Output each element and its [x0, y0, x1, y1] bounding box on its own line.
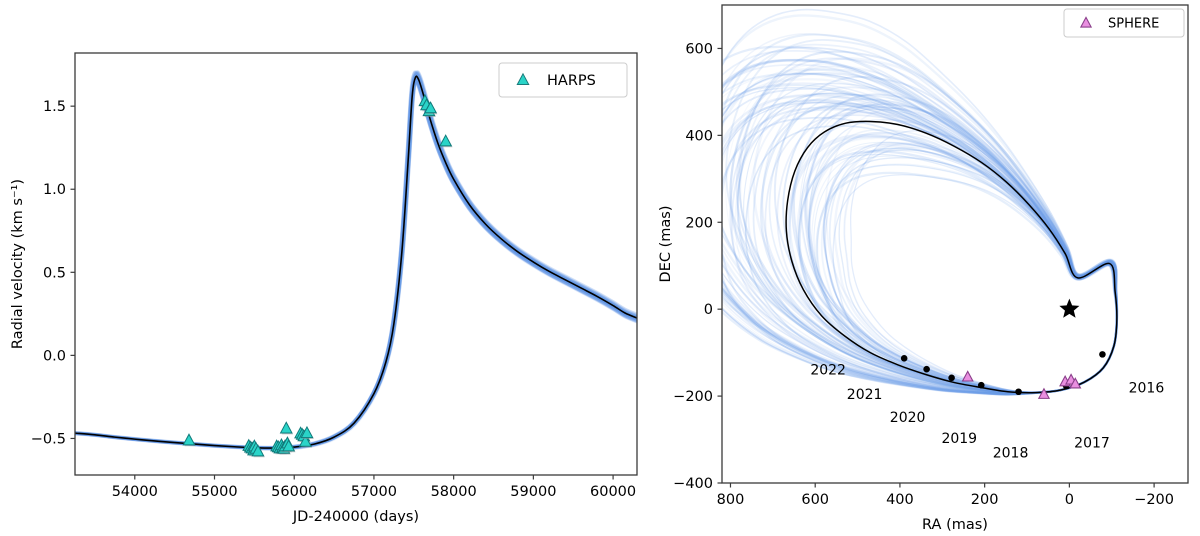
rv-legend[interactable]: HARPS: [499, 63, 627, 97]
orbit-y-tick-label: −200: [673, 389, 713, 405]
sphere-point: [963, 371, 973, 381]
host-star-icon: [1059, 299, 1079, 318]
rv-x-axis-label: JD-240000 (days): [292, 509, 419, 525]
orbit-y-axis-label-group: DEC (mas): [658, 206, 674, 283]
orbit-legend-label: SPHERE: [1108, 17, 1159, 32]
rv-y-tick-label: 0.5: [43, 265, 66, 281]
rv-y-axis-ticks: −0.50.00.51.01.5: [31, 99, 75, 447]
epoch-year-label: 2021: [847, 387, 883, 403]
harps-point: [183, 434, 194, 445]
rv-y-axis-label-group: Radial velocity (km s⁻¹): [10, 179, 26, 349]
orbit-x-axis-label: RA (mas): [922, 517, 988, 533]
epoch-year-label: 2022: [810, 362, 846, 378]
orbit-posterior-draws: [668, 10, 1117, 395]
orbit-y-tick-label: 0: [704, 302, 713, 318]
epoch-marker-dot: [948, 375, 955, 382]
rv-y-tick-label: −0.5: [31, 431, 66, 447]
rv-x-tick-label: 60000: [590, 484, 636, 500]
rv-x-tick-label: 57000: [351, 484, 397, 500]
rv-median-curve: [75, 76, 637, 448]
orbit-y-tick-label: 200: [685, 215, 713, 231]
epoch-year-label: 2019: [941, 431, 977, 447]
epoch-marker-dot: [1099, 351, 1106, 358]
harps-datapoints: [183, 95, 452, 457]
orbit-legend[interactable]: SPHERE: [1064, 9, 1184, 37]
orbit-y-tick-label: 600: [685, 41, 713, 57]
epoch-year-label: 2020: [890, 410, 926, 426]
orbit-x-tick-label: −200: [1134, 492, 1174, 508]
orbit-x-axis-ticks: 8006004002000−200: [717, 483, 1174, 508]
rv-y-tick-label: 1.0: [43, 182, 66, 198]
rv-y-tick-label: 1.5: [43, 99, 66, 115]
rv-x-tick-label: 59000: [510, 484, 556, 500]
harps-point: [281, 422, 292, 433]
orbit-x-tick-label: 200: [971, 492, 999, 508]
rv-posterior-draws: [75, 71, 638, 449]
radial-velocity-panel: 54000550005600057000580005900060000 −0.5…: [0, 0, 650, 536]
epoch-year-label: 2016: [1129, 380, 1165, 396]
astrometry-orbit-svg: 2016201720182019202020212022 80060040020…: [650, 0, 1200, 536]
orbit-x-tick-label: 600: [801, 492, 829, 508]
epoch-marker-dot: [901, 355, 908, 362]
harps-point: [440, 135, 451, 146]
rv-x-tick-label: 58000: [431, 484, 477, 500]
figure-root: 54000550005600057000580005900060000 −0.5…: [0, 0, 1200, 536]
rv-x-axis-ticks: 54000550005600057000580005900060000: [112, 475, 636, 500]
orbit-x-tick-label: 400: [886, 492, 914, 508]
orbit-y-axis-ticks: −400−2000200400600: [673, 41, 722, 492]
epoch-marker-dot: [1015, 388, 1022, 395]
orbit-y-tick-label: 400: [685, 128, 713, 144]
astrometry-orbit-panel: 2016201720182019202020212022 80060040020…: [650, 0, 1200, 536]
epoch-marker-dot: [978, 382, 985, 389]
rv-y-axis-label: Radial velocity (km s⁻¹): [10, 179, 26, 349]
rv-x-tick-label: 56000: [271, 484, 317, 500]
orbit-x-tick-label: 800: [717, 492, 745, 508]
orbit-y-tick-label: −400: [673, 476, 713, 492]
rv-legend-label: HARPS: [547, 73, 596, 89]
rv-x-tick-label: 54000: [112, 484, 158, 500]
rv-x-tick-label: 55000: [191, 484, 237, 500]
epoch-marker-dot: [923, 366, 930, 373]
orbit-y-axis-label: DEC (mas): [658, 206, 674, 283]
epoch-year-label: 2017: [1074, 436, 1110, 452]
rv-axes-frame: [75, 53, 637, 475]
epoch-year-label: 2018: [993, 446, 1029, 462]
orbit-x-tick-label: 0: [1065, 492, 1074, 508]
radial-velocity-svg: 54000550005600057000580005900060000 −0.5…: [0, 0, 650, 536]
rv-y-tick-label: 0.0: [43, 348, 66, 364]
